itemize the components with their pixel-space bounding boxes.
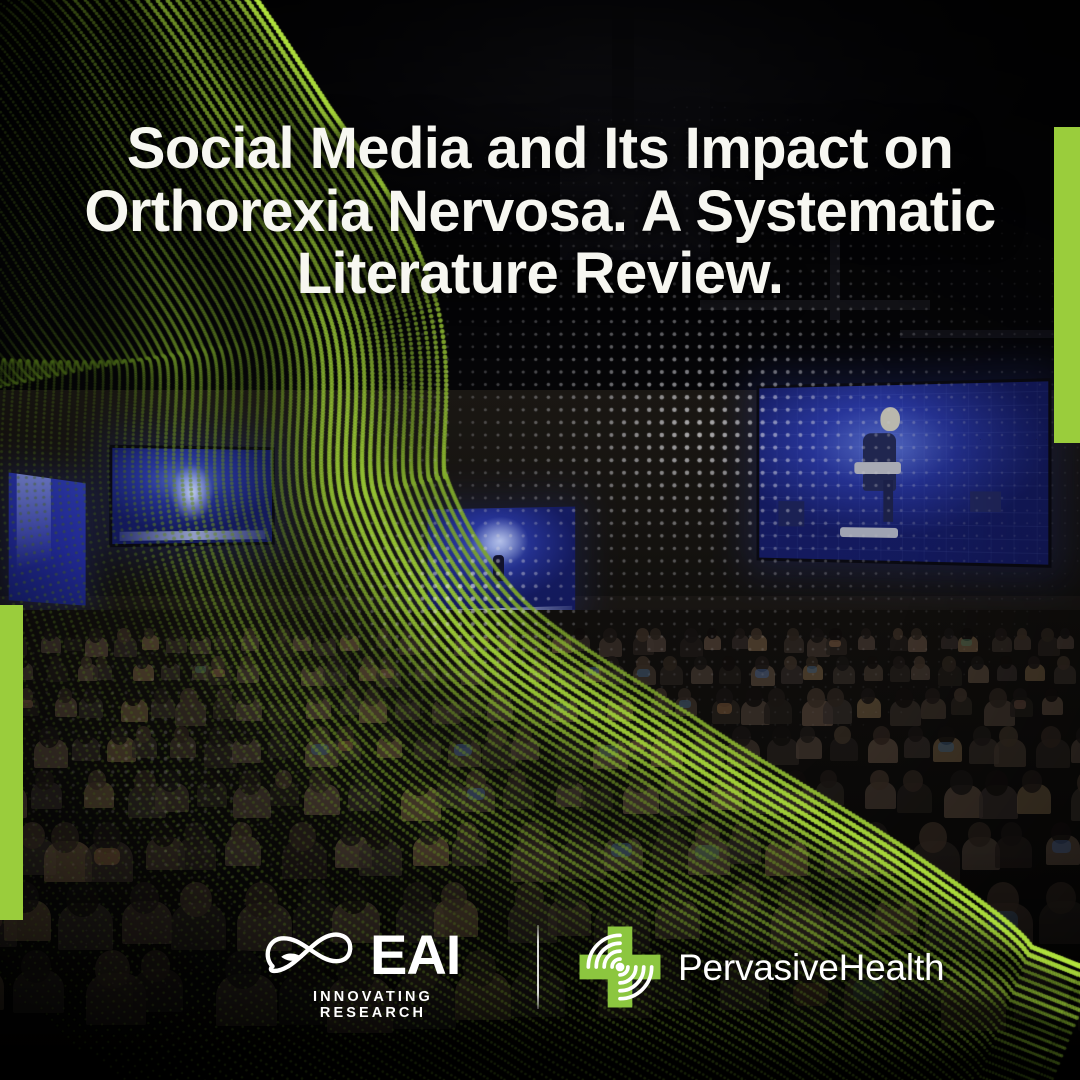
audience-member-head (111, 726, 128, 745)
audience-member-head (658, 822, 681, 847)
audience-member-head (83, 688, 97, 704)
audience-member-head (603, 628, 617, 643)
audience-member-head (554, 882, 580, 910)
audience-member-head (339, 882, 368, 914)
audience-member-head (96, 656, 107, 669)
audience-member-head (944, 628, 954, 639)
audience-member-head (275, 770, 292, 789)
eai-tagline: INNOVATING RESEARCH (262, 989, 484, 1021)
audience-member-head (925, 688, 940, 704)
audience-highlight (938, 742, 954, 753)
audience-member-head (316, 628, 329, 643)
audience-member-head (180, 688, 198, 708)
audience-member-head (301, 882, 330, 913)
audience-member-head (968, 822, 991, 847)
page-title: Social Media and Its Impact on Orthorexi… (70, 118, 1010, 306)
audience-member-head (971, 656, 984, 670)
green-cross-signal-waves-icon (576, 923, 664, 1011)
audience-member-head (586, 688, 601, 704)
audience-member-head (834, 726, 851, 744)
audience-member-head (1045, 688, 1058, 702)
audience-highlight (1052, 840, 1071, 852)
audience-member-head (707, 628, 717, 639)
audience-member-head (67, 628, 78, 640)
audience-member-head (716, 770, 735, 791)
audience-member-head (832, 882, 863, 916)
promo-card: Social Media and Its Impact on Orthorexi… (0, 0, 1080, 1080)
audience-member-head (827, 688, 844, 707)
audience-highlight (829, 640, 841, 648)
audience-highlight (588, 667, 600, 675)
audience-member-head (154, 688, 168, 704)
audience-highlight (717, 703, 733, 714)
audience-highlight (195, 666, 206, 673)
audience-member-head (882, 882, 907, 910)
audience-member-head (440, 770, 458, 790)
projection-screen-left (109, 445, 275, 547)
audience-member-head (800, 726, 816, 743)
audience-member-head (526, 628, 538, 641)
audience-highlight (555, 703, 570, 713)
audience-member-head (1022, 770, 1043, 793)
audience-member-head (611, 688, 627, 705)
audience-member-head (603, 882, 636, 918)
audience-member-head (51, 822, 79, 853)
audience-member-head (117, 628, 131, 643)
audience-member-head (244, 628, 255, 640)
audience-highlight (695, 845, 718, 860)
eai-infinity-ribbon-icon (262, 927, 358, 983)
audience-member-head (44, 628, 56, 641)
audience-highlight (599, 745, 618, 758)
audience-member-head (277, 628, 291, 643)
audience-member-head (240, 688, 256, 705)
audience-member-head (914, 656, 925, 669)
audience-member-head (895, 688, 913, 708)
audience-member-head (867, 656, 879, 669)
audience-member-head (567, 822, 594, 852)
audience-member-head (508, 770, 527, 791)
audience-member-head (942, 656, 956, 672)
audience-member-head (836, 656, 849, 671)
blue-stage-banner (9, 472, 86, 605)
green-accent-bar-left (0, 605, 23, 920)
audience-member-head (745, 688, 763, 707)
audience-member-head (378, 628, 388, 639)
footer-logos: EAI INNOVATING RESEARCH (0, 915, 1080, 1025)
audience-member-head (999, 726, 1018, 747)
audience-member-head (787, 628, 799, 641)
audience-highlight (611, 843, 633, 857)
projection-screen-right (757, 378, 1052, 568)
audience-highlight (454, 744, 472, 756)
audience-member-head (436, 688, 453, 707)
audience-member-head (1017, 628, 1028, 640)
logo-divider (537, 925, 539, 1009)
audience-member-head (654, 688, 667, 703)
audience-member-head (950, 770, 973, 795)
audience-member-head (365, 822, 391, 850)
audience-member-head (50, 656, 62, 670)
audience-member-head (989, 688, 1007, 708)
audience-member-head (402, 628, 415, 642)
audience-member-head (399, 688, 414, 705)
audience-highlight (94, 848, 120, 865)
audience-member-head (751, 628, 762, 640)
audience-member-head (245, 882, 278, 918)
audience-member-head (445, 656, 457, 669)
audience-member-head (343, 628, 354, 640)
audience-highlight (679, 700, 691, 708)
audience-member-head (1028, 656, 1040, 669)
audience-member-head (772, 726, 791, 746)
projection-screen-center (428, 507, 576, 623)
audience-member-head (418, 726, 434, 744)
audience-member-head (666, 770, 688, 794)
audience-member-head (272, 688, 289, 707)
audience-member-head (239, 770, 262, 795)
audience-member-head (327, 656, 341, 672)
audience-member-head (20, 822, 45, 849)
audience-member-head (561, 726, 580, 747)
audience-member-head (893, 628, 904, 640)
audience-member-head (663, 656, 677, 671)
audience-member-head (530, 688, 548, 707)
audience-member-head (231, 822, 252, 845)
audience-member-head (381, 726, 396, 743)
audience-member-head (296, 628, 307, 640)
audience-member-head (407, 770, 431, 796)
screen-image (428, 507, 576, 623)
audience-member-head (732, 822, 752, 844)
audience-member-head (1041, 726, 1061, 748)
eai-logo[interactable]: EAI (262, 927, 460, 983)
audience-member-head (493, 656, 507, 671)
audience-highlight (467, 788, 485, 800)
audience-highlight (637, 669, 650, 677)
audience-member-head (272, 726, 287, 743)
audience-member-head (209, 726, 229, 748)
audience-highlight (755, 669, 768, 678)
audience-member-head (403, 882, 432, 914)
audience-member-head (735, 628, 745, 639)
audience-member-head (465, 656, 479, 671)
audience-member-head (344, 688, 357, 702)
audience-highlight (480, 637, 489, 643)
audience-member-head (364, 688, 381, 706)
audience-member-head (731, 882, 761, 914)
audience-member-head (304, 656, 318, 672)
audience-member-head (66, 882, 98, 917)
audience-member-head (861, 628, 871, 639)
audience-member-head (785, 770, 806, 793)
audience-highlight (961, 639, 972, 646)
audience-member-head (88, 770, 106, 790)
audience-member-head (870, 770, 889, 790)
screen-bezel (757, 378, 1052, 568)
audience-member-head (722, 656, 735, 671)
audience-member-head (656, 726, 676, 747)
audience-member-head (515, 882, 544, 914)
audience-member-head (807, 688, 825, 708)
audience-highlight (380, 669, 394, 678)
audience-member-head (684, 628, 698, 643)
audience-member-head (518, 822, 547, 853)
audience-member-head (419, 822, 440, 845)
audience-member-head (134, 770, 157, 795)
audience-highlight (212, 669, 225, 678)
audience-highlight (630, 741, 645, 751)
audience-highlight (807, 666, 818, 673)
audience-highlight (338, 741, 353, 751)
audience-member-head (502, 628, 513, 640)
audience-highlight (311, 744, 329, 756)
ceiling-structure (900, 330, 1080, 338)
audience-member-head (136, 726, 151, 743)
audience-member-head (995, 628, 1007, 641)
audience-member-head (180, 882, 212, 917)
audience-member-head (421, 628, 433, 641)
audience-member-head (1060, 628, 1070, 639)
audience-member-head (125, 688, 141, 706)
audience-member-head (441, 882, 467, 911)
audience-member-head (772, 822, 797, 850)
audience-member-head (751, 770, 772, 793)
screen-bezel (109, 445, 275, 547)
audience-member-head (810, 628, 824, 643)
screen-stage-figure (493, 555, 504, 581)
audience-member-head (629, 770, 650, 793)
audience-member-head (174, 726, 189, 743)
audience-member-head (694, 656, 707, 670)
audience-member-head (289, 822, 316, 851)
audience-member-head (861, 688, 875, 704)
audience-highlight (1014, 700, 1027, 708)
audience-member-head (35, 770, 54, 790)
green-accent-bar-right (1054, 127, 1080, 443)
audience-member-head (130, 882, 159, 914)
audience-member-head (362, 656, 374, 669)
audience-member-head (515, 726, 531, 744)
audience-member-head (58, 688, 72, 703)
title-line-1: Social Media and Its Impact on (70, 118, 1010, 181)
eai-wordmark: EAI (370, 927, 460, 983)
pervasive-health-logo[interactable]: PervasiveHealth (576, 923, 944, 1011)
audience-member-head (863, 822, 888, 850)
audience-member-head (768, 688, 785, 707)
audience-member-head (586, 770, 605, 791)
title-line-2: Orthorexia Nervosa. A Systematic (70, 181, 1010, 244)
audience-member-head (560, 656, 575, 673)
audience-member-head (193, 628, 205, 641)
audience-member-head (954, 688, 967, 702)
audience-member-head (985, 770, 1008, 796)
audience-member-head (236, 726, 254, 745)
pervasive-health-wordmark: PervasiveHealth (678, 949, 944, 986)
audience-member-head (533, 656, 546, 670)
title-line-3: Literature Review. (70, 243, 1010, 306)
audience-member-head (202, 770, 219, 789)
audience-member-head (77, 726, 94, 744)
audience-member-head (39, 726, 59, 748)
